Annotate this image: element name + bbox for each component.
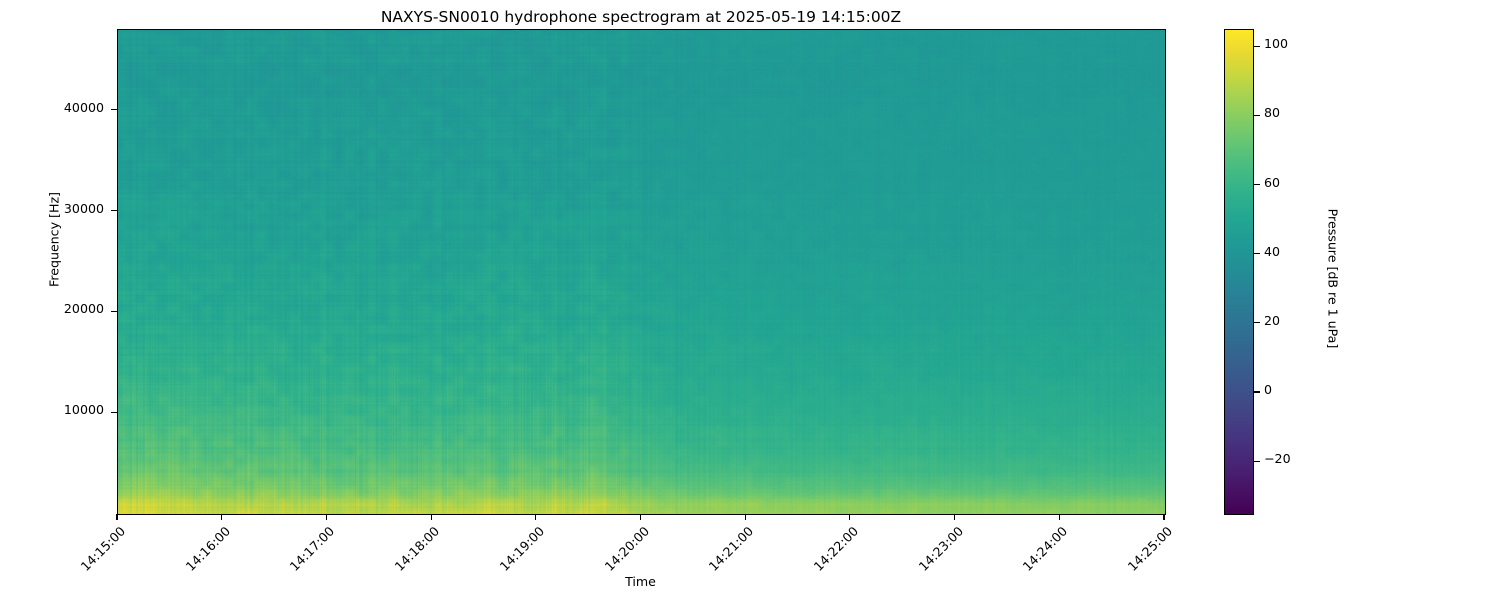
y-tick-mark <box>111 412 117 413</box>
colorbar-tick-label: 20 <box>1264 313 1280 328</box>
colorbar-tick-label: −20 <box>1264 451 1291 466</box>
colorbar-tick-label: 60 <box>1264 175 1280 190</box>
x-tick-mark <box>1163 514 1164 520</box>
x-tick-mark <box>640 514 641 520</box>
colorbar <box>1224 29 1254 515</box>
y-tick-mark <box>111 109 117 110</box>
x-tick-mark <box>849 514 850 520</box>
x-tick-mark <box>431 514 432 520</box>
y-tick-label: 20000 <box>64 301 104 316</box>
colorbar-tick-mark <box>1254 184 1260 185</box>
x-tick-mark <box>954 514 955 520</box>
page-title: NAXYS-SN0010 hydrophone spectrogram at 2… <box>0 8 1282 26</box>
colorbar-tick-mark <box>1254 46 1260 47</box>
colorbar-tick-mark <box>1254 253 1260 254</box>
colorbar-tick-mark <box>1254 391 1260 392</box>
y-tick-mark <box>111 311 117 312</box>
spectrogram-figure: NAXYS-SN0010 hydrophone spectrogram at 2… <box>0 0 1500 600</box>
x-tick-mark <box>745 514 746 520</box>
x-tick-mark <box>535 514 536 520</box>
colorbar-tick-label: 40 <box>1264 244 1280 259</box>
x-tick-mark <box>221 514 222 520</box>
y-tick-mark <box>111 210 117 211</box>
y-tick-label: 30000 <box>64 201 104 216</box>
y-axis-label: Frequency [Hz] <box>47 180 62 300</box>
y-tick-label: 40000 <box>64 100 104 115</box>
colorbar-tick-mark <box>1254 461 1260 462</box>
colorbar-tick-mark <box>1254 115 1260 116</box>
colorbar-tick-label: 100 <box>1264 36 1288 51</box>
colorbar-label: Pressure [dB re 1 uPa] <box>1326 184 1341 374</box>
spectrogram-plot-area <box>117 29 1166 515</box>
x-tick-mark <box>1059 514 1060 520</box>
colorbar-tick-label: 80 <box>1264 105 1280 120</box>
colorbar-gradient <box>1225 30 1253 514</box>
x-tick-mark <box>116 514 117 520</box>
x-tick-mark <box>326 514 327 520</box>
colorbar-tick-mark <box>1254 322 1260 323</box>
colorbar-tick-label: 0 <box>1264 382 1272 397</box>
spectrogram-image <box>118 30 1165 514</box>
y-tick-label: 10000 <box>64 402 104 417</box>
